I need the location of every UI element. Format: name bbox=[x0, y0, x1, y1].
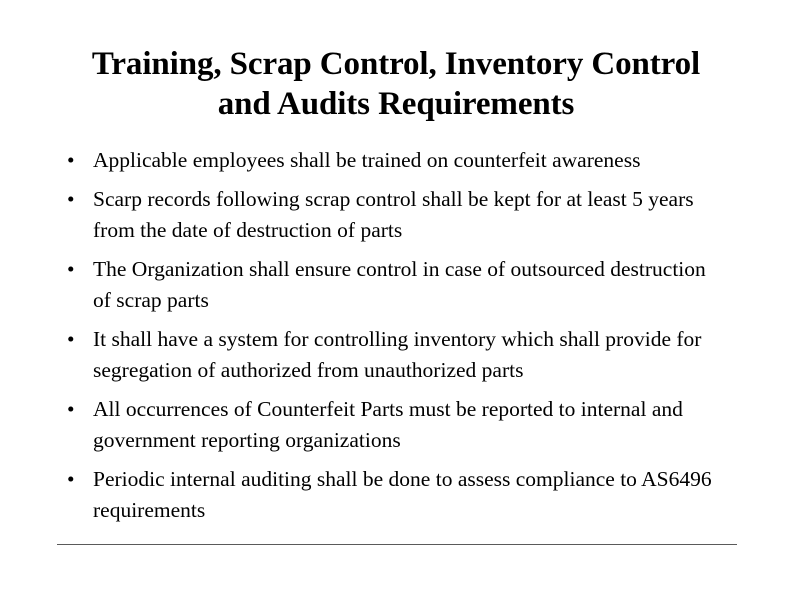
bullet-marker-icon: • bbox=[67, 394, 75, 426]
bullet-list: • Applicable employees shall be trained … bbox=[62, 145, 724, 527]
list-item: • Periodic internal auditing shall be do… bbox=[62, 464, 724, 527]
bullet-marker-icon: • bbox=[67, 184, 75, 216]
list-item-text: The Organization shall ensure control in… bbox=[93, 254, 724, 317]
list-item: • All occurrences of Counterfeit Parts m… bbox=[62, 394, 724, 457]
list-item: • The Organization shall ensure control … bbox=[62, 254, 724, 317]
list-item-text: Applicable employees shall be trained on… bbox=[93, 145, 724, 177]
list-item-text: It shall have a system for controlling i… bbox=[93, 324, 724, 387]
page-title: Training, Scrap Control, Inventory Contr… bbox=[46, 44, 746, 124]
list-item: • Applicable employees shall be trained … bbox=[62, 145, 724, 177]
list-item-text: Periodic internal auditing shall be done… bbox=[93, 464, 724, 527]
footer-divider bbox=[57, 544, 737, 545]
title-line-1: Training, Scrap Control, Inventory Contr… bbox=[46, 44, 746, 84]
list-item-text: All occurrences of Counterfeit Parts mus… bbox=[93, 394, 724, 457]
bullet-marker-icon: • bbox=[67, 145, 75, 177]
slide: Training, Scrap Control, Inventory Contr… bbox=[0, 0, 792, 612]
title-line-2: and Audits Requirements bbox=[46, 84, 746, 124]
bullet-marker-icon: • bbox=[67, 254, 75, 286]
bullet-marker-icon: • bbox=[67, 464, 75, 496]
list-item: • Scarp records following scrap control … bbox=[62, 184, 724, 247]
list-item: • It shall have a system for controlling… bbox=[62, 324, 724, 387]
slide-footer: calce Center for Advanced Life Cycle Eng… bbox=[0, 548, 792, 588]
list-item-text: Scarp records following scrap control sh… bbox=[93, 184, 724, 247]
bullet-marker-icon: • bbox=[67, 324, 75, 356]
